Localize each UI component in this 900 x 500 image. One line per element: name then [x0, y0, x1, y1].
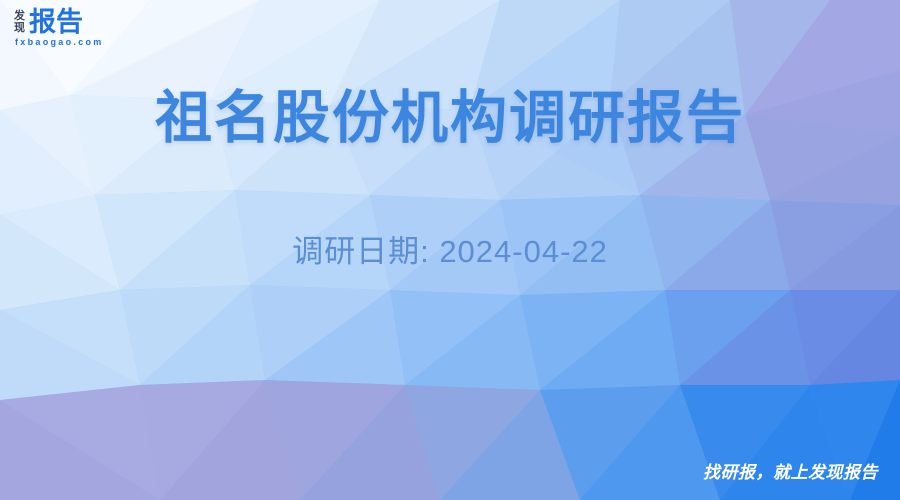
page-title: 祖名股份机构调研报告 [0, 84, 900, 152]
logo-wordmark-row: 发 现 报告 [14, 8, 104, 36]
subtitle-container: 调研日期: 2024-04-22 [0, 232, 900, 272]
logo-char-top: 发 [14, 10, 25, 22]
survey-date: 调研日期: 2024-04-22 [0, 232, 900, 272]
logo-char-bottom: 现 [14, 22, 25, 34]
title-container: 祖名股份机构调研报告 [0, 84, 900, 152]
logo-wordmark: 报告 [29, 8, 83, 36]
brand-logo[interactable]: 发 现 报告 fxbaogao.com [14, 8, 104, 48]
footer-slogan: 找研报，就上发现报告 [703, 462, 878, 484]
report-cover-slide: 发 现 报告 fxbaogao.com 祖名股份机构调研报告 调研日期: 202… [0, 0, 900, 500]
logo-stacked-characters: 发 现 [14, 10, 25, 36]
logo-url: fxbaogao.com [14, 37, 104, 48]
